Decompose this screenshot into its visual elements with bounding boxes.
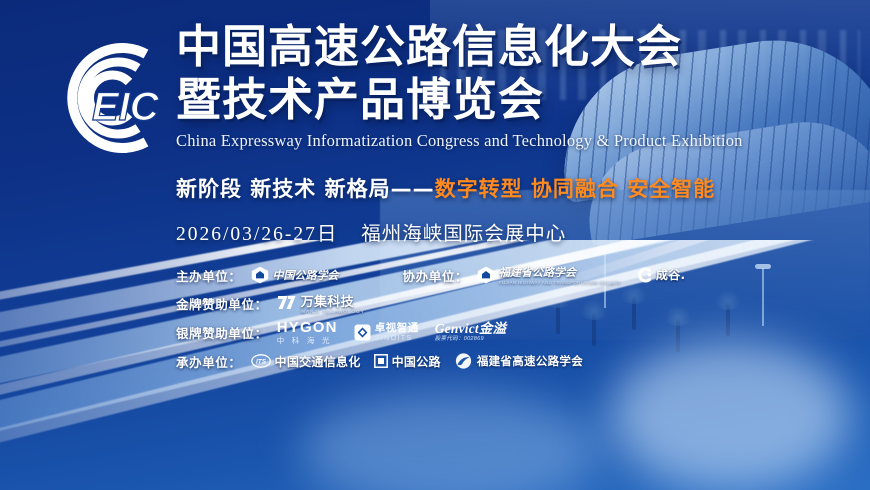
logo-hygon: HYGON 中 科 海 光 [277, 320, 338, 345]
logo-main-text: HYGON [277, 320, 338, 335]
logo-main-text: 万集科技 [301, 295, 354, 310]
logo-sinoits: 卓视智通 SINOITS [354, 323, 419, 342]
sponsor-row-undertaker: 承办单位： ITS 中国交通信息化 中国公 [176, 348, 866, 374]
logo-text: 万集科技 WANJI TECHNOLOGY [301, 291, 365, 316]
logo-main-text: 卓视智通 [375, 323, 419, 334]
sponsor-label-silver: 银牌赞助单位： [176, 323, 268, 342]
logo-wanji-technology: 万集科技 WANJI TECHNOLOGY [277, 291, 365, 316]
logo-text: 中国交通信息化 [275, 353, 361, 370]
ceic-logo: EIC [28, 32, 176, 164]
wanji-arrow-icon [277, 294, 297, 311]
logo-text: 福建省公路学会 FUJIAN HIGHWAY AND TRANSPORTATIO… [499, 264, 621, 286]
logo-chenggu: 成谷. [636, 266, 685, 283]
conference-banner: EIC 中国高速公路信息化大会 暨技术产品博览会 China Expresswa… [0, 0, 870, 490]
logo-fujian-expressway-society: 福建省高速公路学会 [454, 353, 583, 370]
logo-main-text: Genvict金溢 [435, 322, 507, 336]
logo-sub-text: WANJI TECHNOLOGY [301, 310, 365, 316]
logo-china-highway-society: 中国公路学会 [251, 266, 339, 284]
event-date: 2026/03/26-27日 [176, 224, 338, 245]
logo-fujian-highway-society: 福建省公路学会 FUJIAN HIGHWAY AND TRANSPORTATIO… [477, 264, 621, 286]
banner-content: 中国高速公路信息化大会 暨技术产品博览会 China Expressway In… [176, 24, 866, 376]
sponsor-row-organizer: 主办单位： 中国公路学会 协办单位： [176, 262, 866, 288]
logo-sub-text: FUJIAN HIGHWAY AND TRANSPORTATION SOCIET… [499, 280, 621, 286]
sponsor-label-undertaker: 承办单位： [176, 352, 242, 371]
logo-text: 成谷. [656, 266, 685, 283]
sponsor-label-gold: 金牌赞助单位： [176, 294, 268, 313]
logo-sub-text: 中 科 海 光 [277, 337, 338, 345]
logo-sub-text: 股票代码：002869 [435, 337, 507, 343]
its-label: ITS [255, 359, 266, 366]
hexagon-mark-icon [477, 266, 495, 284]
sponsor-row-gold: 金牌赞助单位： 万集科技 WANJI TECHNOLOGY [176, 290, 866, 316]
title-line-1: 中国高速公路信息化大会 [176, 24, 866, 69]
sponsor-label-coorganizer: 协办单位： [403, 266, 469, 285]
logo-sub-text: SINOITS [375, 335, 419, 342]
logo-its-china: ITS 中国交通信息化 [251, 353, 361, 370]
ceic-logo-letters: EIC [92, 85, 160, 129]
logo-main-text: 福建省公路学会 [499, 266, 576, 279]
hexagon-mark-icon [251, 266, 269, 284]
slogan-white-part: 新阶段 新技术 新格局—— [176, 177, 435, 201]
logo-text: 中国公路 [392, 353, 441, 370]
sponsor-section: 主办单位： 中国公路学会 协办单位： [176, 262, 866, 374]
square-frame-icon [374, 354, 388, 368]
swoosh-circle-icon [454, 353, 473, 370]
title-english: China Expressway Informatization Congres… [176, 131, 866, 151]
logo-genvict: Genvict金溢 股票代码：002869 [435, 322, 507, 343]
event-venue: 福州海峡国际会展中心 [361, 222, 566, 245]
logo-china-highway-magazine: 中国公路 [374, 353, 441, 370]
logo-text: 中国公路学会 [273, 267, 339, 283]
logo-text: 福建省高速公路学会 [477, 353, 583, 369]
sponsor-row-silver: 银牌赞助单位： HYGON 中 科 海 光 卓视智通 [176, 318, 866, 346]
sponsor-label-host: 主办单位： [176, 266, 242, 285]
c-swoosh-icon [636, 267, 652, 283]
title-line-2: 暨技术产品博览会 [176, 77, 866, 122]
slogan-orange-part: 数字转型 协同融合 安全智能 [435, 177, 716, 201]
date-venue-line: 2026/03/26-27日 福州海峡国际会展中心 [176, 217, 866, 246]
its-oval-icon: ITS [251, 354, 271, 368]
theme-slogan: 新阶段 新技术 新格局——数字转型 协同融合 安全智能 [176, 173, 866, 203]
sinoits-diamond-icon [354, 324, 371, 341]
